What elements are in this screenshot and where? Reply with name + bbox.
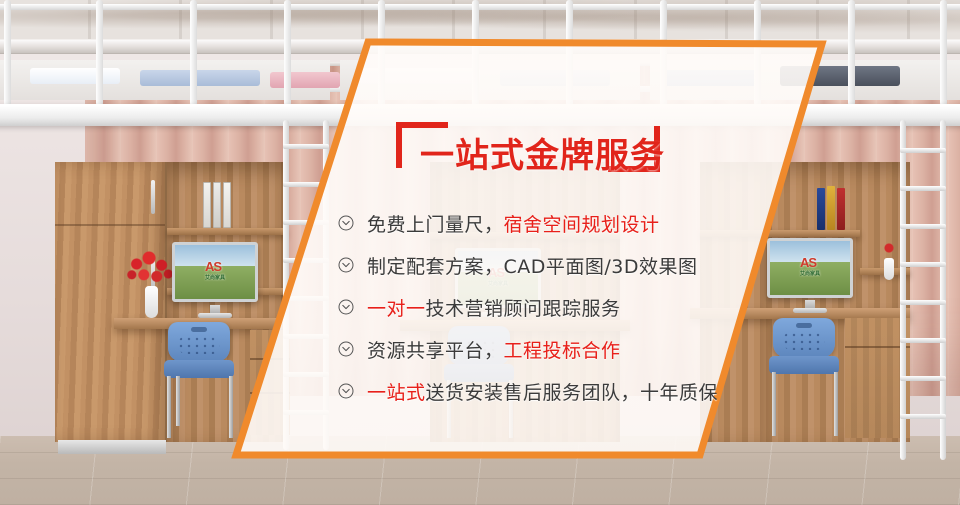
list-item: 一站式送货安装售后服务团队，十年质保 — [338, 372, 768, 410]
service-feature-list: 免费上门量尺，宿舍空间规划设计 制定配套方案，CAD平面图/3D效果图 — [338, 204, 768, 414]
promo-banner: AS艾尚家具 AS艾尚家具 — [0, 0, 960, 505]
chevron-down-circle-icon — [338, 341, 354, 357]
panel-content: 一站式金牌服务 免费上门量尺，宿舍空间规划设计 — [0, 0, 960, 505]
list-item: 制定配套方案，CAD平面图/3D效果图 — [338, 246, 768, 284]
list-item-text: 资源共享平台，工程投标合作 — [367, 336, 621, 363]
list-item-text: 免费上门量尺，宿舍空间规划设计 — [367, 210, 660, 237]
chevron-down-circle-icon — [338, 383, 354, 399]
list-item: 资源共享平台，工程投标合作 — [338, 330, 768, 368]
chevron-down-circle-icon — [338, 299, 354, 315]
chevron-down-circle-icon — [338, 215, 354, 231]
list-item-text: 一对一技术营销顾问跟踪服务 — [367, 294, 621, 321]
title-block: 一站式金牌服务 — [396, 122, 671, 182]
list-item: 一对一技术营销顾问跟踪服务 — [338, 288, 768, 326]
list-item: 免费上门量尺，宿舍空间规划设计 — [338, 204, 768, 242]
list-item-text: 制定配套方案，CAD平面图/3D效果图 — [367, 252, 698, 279]
list-item-text: 一站式送货安装售后服务团队，十年质保 — [367, 378, 718, 405]
page-title: 一站式金牌服务 — [420, 128, 665, 177]
chevron-down-circle-icon — [338, 257, 354, 273]
